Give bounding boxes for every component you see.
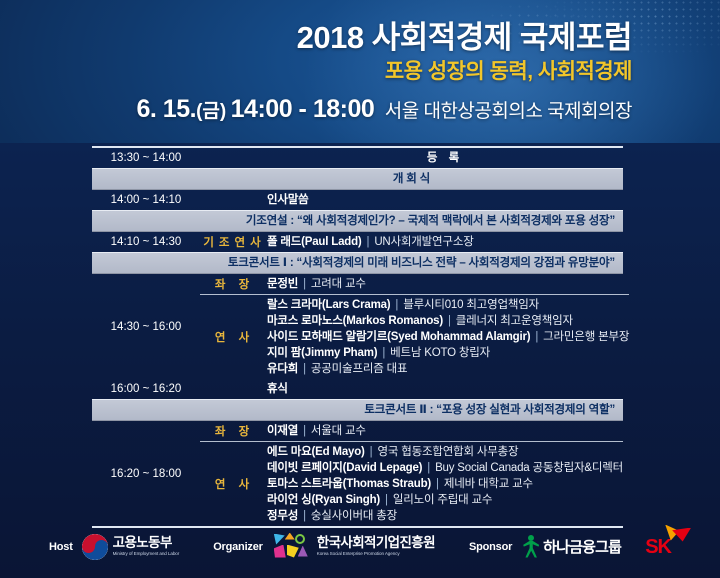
speaker-separator: | <box>443 315 456 327</box>
schedule-role-label: 좌 장 <box>200 274 264 294</box>
speaker-name: 에드 마요(Ed Mayo) <box>267 446 365 458</box>
sponsor1-name: 하나금융그룹 <box>543 536 621 557</box>
schedule-role-label <box>200 379 264 399</box>
schedule-line: 개 회 식 <box>393 171 430 187</box>
speaker-name: 데이빗 르페이지(David Lepage) <box>267 462 422 474</box>
speaker-affiliation: 클레너지 최고운영책임자 <box>456 315 573 327</box>
speaker-separator: | <box>298 363 311 375</box>
schedule-row: 16:00 ~ 16:20휴식 <box>92 379 623 399</box>
schedule-content: 문정빈 | 고려대 교수 <box>264 274 629 294</box>
schedule-row: 14:10 ~ 14:30기조연사폴 래드(Paul Ladd) | UN사회개… <box>92 232 623 252</box>
schedule-line: 이재열 | 서울대 교수 <box>267 423 623 439</box>
speaker-separator: | <box>362 236 375 248</box>
sponsor-group: Sponsor 하나금융그룹 SK <box>469 535 671 559</box>
speaker-name: 이재열 <box>267 425 298 437</box>
schedule-subrow: 연 사랄스 크라마(Lars Crama) | 블루시티010 최고영업책임자마… <box>200 294 629 379</box>
schedule-banner-row: 기조연설 : “왜 사회적경제인가? – 국제적 맥락에서 본 사회적경제와 포… <box>92 210 623 232</box>
speaker-name: 유다희 <box>267 363 298 375</box>
host-name-ko: 고용노동부 <box>113 536 180 550</box>
schedule-line: 휴식 <box>267 381 623 397</box>
forum-date: 6. 15. <box>137 95 197 123</box>
speaker-separator: | <box>390 299 403 311</box>
speaker-name: 라이언 싱(Ryan Singh) <box>267 494 380 506</box>
speaker-name: 폴 래드(Paul Ladd) <box>267 236 362 248</box>
schedule-role-label <box>200 148 264 168</box>
speaker-affiliation: 블루시티010 최고영업책임자 <box>403 299 539 311</box>
schedule-time <box>92 211 200 231</box>
schedule-content: 토크콘서트 Ⅱ : “포용 성장 실현과 사회적경제의 역할” <box>200 400 623 420</box>
schedule-content: 개 회 식 <box>200 169 623 189</box>
schedule-group-row: 14:30 ~ 16:00좌 장문정빈 | 고려대 교수연 사랄스 크라마(La… <box>92 274 623 379</box>
schedule-line-text: 인사말씀 <box>267 194 309 206</box>
schedule-time <box>92 169 200 189</box>
schedule-line: 마코스 로마노스(Markos Romanos) | 클레너지 최고운영책임자 <box>267 313 629 329</box>
schedule-role-label: 연 사 <box>200 295 264 379</box>
schedule-content: 에드 마요(Ed Mayo) | 영국 협동조합연합회 사무총장데이빗 르페이지… <box>264 442 623 526</box>
forum-venue: 서울 대한상공회의소 국제회의장 <box>385 101 632 122</box>
schedule-content: 기조연설 : “왜 사회적경제인가? – 국제적 맥락에서 본 사회적경제와 포… <box>200 211 623 231</box>
moel-logo: 고용노동부 Ministry of Employment and Labor <box>82 534 180 560</box>
speaker-affiliation: 고려대 교수 <box>311 278 366 290</box>
schedule-banner-row: 토크콘서트 Ⅱ : “포용 성장 실현과 사회적경제의 역할” <box>92 399 623 421</box>
schedule-time: 16:20 ~ 18:00 <box>92 421 200 526</box>
schedule-subrow: 연 사에드 마요(Ed Mayo) | 영국 협동조합연합회 사무총장데이빗 르… <box>200 441 623 526</box>
speaker-name: 랄스 크라마(Lars Crama) <box>267 299 390 311</box>
speaker-affiliation: Buy Social Canada 공동창립자&디렉터 <box>435 462 623 474</box>
host-label: Host <box>49 541 73 553</box>
schedule-row: 14:00 ~ 14:10인사말씀 <box>92 190 623 210</box>
schedule-role-label: 좌 장 <box>200 421 264 441</box>
schedule-content: 랄스 크라마(Lars Crama) | 블루시티010 최고영업책임자마코스 … <box>264 295 629 379</box>
schedule-banner-row: 토크콘서트 Ⅰ : “사회적경제의 미래 비즈니스 전략 – 사회적경제의 강점… <box>92 252 623 274</box>
schedule-line-text: 기조연설 : “왜 사회적경제인가? – 국제적 맥락에서 본 사회적경제와 포… <box>246 215 615 227</box>
organizer-label: Organizer <box>213 541 263 553</box>
forum-time: 14:00 - 18:00 <box>231 95 375 123</box>
speaker-affiliation: 일리노이 주립대 교수 <box>393 494 492 506</box>
schedule-time: 14:00 ~ 14:10 <box>92 190 200 210</box>
schedule-time <box>92 253 200 273</box>
sponsor-footer: Host 고용노동부 Ministry of Employment and La… <box>0 515 720 578</box>
schedule-content: 토크콘서트 Ⅰ : “사회적경제의 미래 비즈니스 전략 – 사회적경제의 강점… <box>200 253 623 273</box>
schedule-line: 토크콘서트 Ⅰ : “사회적경제의 미래 비즈니스 전략 – 사회적경제의 강점… <box>228 255 615 271</box>
speaker-name: 토마스 스트라웁(Thomas Straub) <box>267 478 431 490</box>
schedule-line: 토마스 스트라웁(Thomas Straub) | 제네바 대학교 교수 <box>267 476 623 492</box>
schedule-line-text: 토크콘서트 Ⅱ : “포용 성장 실현과 사회적경제의 역할” <box>364 404 615 416</box>
speaker-affiliation: 공공미술프리즘 대표 <box>311 363 407 375</box>
kosea-logo: 한국사회적기업진흥원 Korea Social Enterprise Promo… <box>272 533 435 561</box>
speaker-separator: | <box>365 446 378 458</box>
schedule-line: 지미 팜(Jimmy Pham) | 베트남 KOTO 창립자 <box>267 345 629 361</box>
speaker-name: 마코스 로마노스(Markos Romanos) <box>267 315 443 327</box>
schedule-line: 데이빗 르페이지(David Lepage) | Buy Social Cana… <box>267 460 623 476</box>
speaker-affiliation: 영국 협동조합연합회 사무총장 <box>377 446 518 458</box>
host-group: Host 고용노동부 Ministry of Employment and La… <box>49 534 179 560</box>
schedule-content: 인사말씀 <box>264 190 623 210</box>
schedule-time: 16:00 ~ 16:20 <box>92 379 200 399</box>
schedule-line: 기조연설 : “왜 사회적경제인가? – 국제적 맥락에서 본 사회적경제와 포… <box>246 213 615 229</box>
schedule-line-text: 휴식 <box>267 383 288 395</box>
hana-logo: 하나금융그룹 <box>521 535 621 559</box>
schedule-line: 사이드 모하매드 알람기르(Syed Mohammad Alamgir) | 그… <box>267 329 629 345</box>
speaker-separator: | <box>298 278 311 290</box>
speaker-affiliation: 그라민은행 본부장 <box>543 331 629 343</box>
schedule-line: 유다희 | 공공미술프리즘 대표 <box>267 361 629 377</box>
schedule-content: 휴식 <box>264 379 623 399</box>
schedule-line-text: 개 회 식 <box>393 173 430 185</box>
schedule-time <box>92 400 200 420</box>
schedule-time: 14:30 ~ 16:00 <box>92 274 200 379</box>
taegeuk-icon <box>82 534 108 560</box>
schedule-line: 문정빈 | 고려대 교수 <box>267 276 629 292</box>
speaker-separator: | <box>298 425 311 437</box>
forum-day: (금) <box>196 101 226 122</box>
schedule-line-text: 토크콘서트 Ⅰ : “사회적경제의 미래 비즈니스 전략 – 사회적경제의 강점… <box>228 257 615 269</box>
speaker-separator: | <box>422 462 435 474</box>
schedule-time: 14:10 ~ 14:30 <box>92 232 200 252</box>
schedule-role-label: 연 사 <box>200 442 264 526</box>
organizer-name-ko: 한국사회적기업진흥원 <box>317 536 435 550</box>
schedule-line: 라이언 싱(Ryan Singh) | 일리노이 주립대 교수 <box>267 492 623 508</box>
schedule-content: 폴 래드(Paul Ladd) | UN사회개발연구소장 <box>264 232 623 252</box>
schedule-row: 13:30 ~ 14:00등 록 <box>92 148 623 168</box>
schedule-line: 등 록 <box>267 150 623 166</box>
speaker-separator: | <box>377 347 390 359</box>
organizer-name-en: Korea Social Enterprise Promotion Agency <box>317 550 435 557</box>
organizer-group: Organizer 한국사회적기업진흥원 Korea Social Enterp… <box>213 533 435 561</box>
sk-logo: SK <box>645 537 671 557</box>
speaker-separator: | <box>530 331 543 343</box>
speaker-name: 지미 팜(Jimmy Pham) <box>267 347 377 359</box>
schedule-role-label <box>200 190 264 210</box>
schedule-line: 랄스 크라마(Lars Crama) | 블루시티010 최고영업책임자 <box>267 297 629 313</box>
schedule-banner-row: 개 회 식 <box>92 168 623 190</box>
schedule-subrow: 좌 장이재열 | 서울대 교수 <box>200 421 623 441</box>
kosea-mark-icon <box>272 533 312 561</box>
forum-datetime-venue: 6. 15.(금) 14:00 - 18:00 서울 대한상공회의소 국제회의장 <box>137 95 633 124</box>
sponsor-label: Sponsor <box>469 541 512 553</box>
speaker-affiliation: 서울대 교수 <box>311 425 366 437</box>
schedule-content: 이재열 | 서울대 교수 <box>264 421 623 441</box>
speaker-name: 사이드 모하매드 알람기르(Syed Mohammad Alamgir) <box>267 331 530 343</box>
speaker-separator: | <box>431 478 444 490</box>
schedule-group-row: 16:20 ~ 18:00좌 장이재열 | 서울대 교수연 사에드 마요(Ed … <box>92 421 623 526</box>
schedule-line: 에드 마요(Ed Mayo) | 영국 협동조합연합회 사무총장 <box>267 444 623 460</box>
schedule-role-label: 기조연사 <box>200 232 264 252</box>
hero-banner: 2018 사회적경제 국제포럼 포용 성장의 동력, 사회적경제 6. 15.(… <box>0 0 720 143</box>
schedule-time: 13:30 ~ 14:00 <box>92 148 200 168</box>
speaker-affiliation: 제네바 대학교 교수 <box>444 478 533 490</box>
forum-subtitle: 포용 성장의 동력, 사회적경제 <box>385 55 632 85</box>
sk-wing-icon <box>665 525 691 543</box>
schedule-line: 폴 래드(Paul Ladd) | UN사회개발연구소장 <box>267 234 623 250</box>
speaker-affiliation: UN사회개발연구소장 <box>374 236 473 248</box>
speaker-separator: | <box>380 494 393 506</box>
schedule-table: 13:30 ~ 14:00등 록개 회 식14:00 ~ 14:10인사말씀기조… <box>92 146 623 528</box>
schedule-subrow: 좌 장문정빈 | 고려대 교수 <box>200 274 629 294</box>
schedule-line: 인사말씀 <box>267 192 623 208</box>
hana-person-icon <box>521 535 541 559</box>
speaker-name: 문정빈 <box>267 278 298 290</box>
schedule-content: 등 록 <box>264 148 623 168</box>
schedule-line: 토크콘서트 Ⅱ : “포용 성장 실현과 사회적경제의 역할” <box>364 402 615 418</box>
schedule-line-text: 등 록 <box>427 152 463 164</box>
host-name-en: Ministry of Employment and Labor <box>113 550 180 557</box>
speaker-affiliation: 베트남 KOTO 창립자 <box>390 347 490 359</box>
forum-title: 2018 사회적경제 국제포럼 <box>297 12 632 57</box>
